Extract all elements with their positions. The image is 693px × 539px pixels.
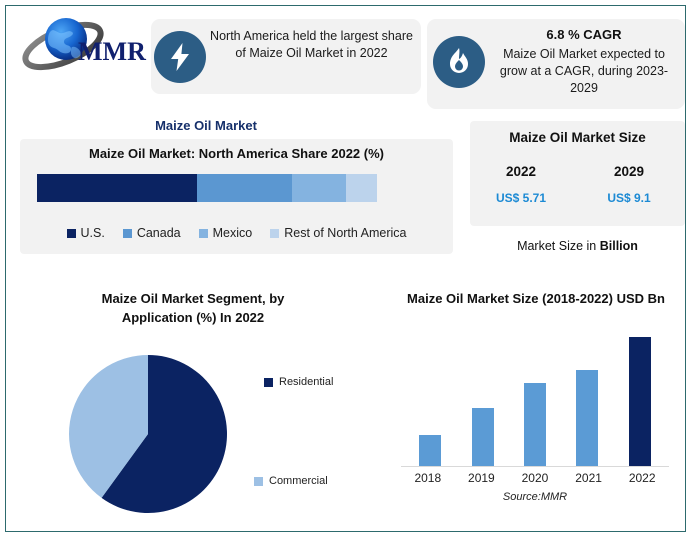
market-size-column-2029: 2029 US$ 9.1: [584, 164, 674, 205]
na-share-segment: [197, 174, 292, 202]
na-legend-item: Rest of North America: [270, 226, 406, 240]
flame-icon: [433, 36, 485, 88]
column-chart-title: Maize Oil Market Size (2018-2022) USD Bn: [386, 289, 686, 308]
column-bar: [576, 370, 598, 466]
pie-legend-label-residential: Residential: [279, 376, 333, 388]
na-legend-item: Mexico: [199, 226, 253, 240]
column-x-label: 2021: [562, 471, 616, 485]
na-share-chart-title: Maize Oil Market: North America Share 20…: [20, 146, 453, 161]
flame-glyph: [447, 47, 471, 77]
lightning-bolt-glyph: [167, 42, 193, 72]
column-x-label: 2018: [401, 471, 455, 485]
na-share-stacked-bar: [37, 174, 377, 202]
na-legend-swatch: [123, 229, 132, 238]
column-chart-axis-line: [401, 466, 669, 467]
market-size-value-2022: US$ 5.71: [476, 191, 566, 205]
svg-text:MMR: MMR: [78, 37, 146, 66]
infographic-root: MMR North America held the largest share…: [0, 0, 693, 539]
banner-text-north-america: North America held the largest share of …: [209, 28, 414, 62]
na-legend-label: Canada: [137, 226, 181, 240]
market-size-title: Maize Oil Market Size: [470, 130, 685, 145]
cagr-headline: 6.8 % CAGR: [489, 26, 679, 43]
banner-text-cagr: 6.8 % CAGR Maize Oil Market expected to …: [489, 26, 679, 97]
na-legend-swatch: [67, 229, 76, 238]
na-legend-label: U.S.: [81, 226, 105, 240]
market-size-column-2022: 2022 US$ 5.71: [476, 164, 566, 205]
na-legend-item: Canada: [123, 226, 181, 240]
pie-legend-swatch-commercial: [254, 477, 263, 486]
column-bar: [629, 337, 651, 466]
column-chart-x-labels: 20182019202020212022: [401, 471, 669, 485]
column-x-label: 2020: [508, 471, 562, 485]
na-legend-swatch: [270, 229, 279, 238]
column-bar: [524, 383, 546, 466]
na-share-legend: U.S.CanadaMexicoRest of North America: [20, 226, 453, 240]
column-chart-source: Source:MMR: [401, 491, 669, 503]
market-size-year-2029: 2029: [584, 164, 674, 179]
globe-orbit-logo-icon: MMR: [20, 14, 152, 76]
pie-legend-swatch-residential: [264, 378, 273, 387]
na-share-segment: [292, 174, 346, 202]
cagr-description: Maize Oil Market expected to grow at a C…: [500, 47, 668, 95]
column-x-label: 2022: [615, 471, 669, 485]
column-x-label: 2019: [455, 471, 509, 485]
pie-legend-item-commercial: Commercial: [254, 475, 328, 487]
column-bar: [419, 435, 441, 466]
column-chart-plot: [404, 331, 666, 466]
pie-chart-title: Maize Oil Market Segment, by Application…: [68, 289, 318, 327]
pie-legend-label-commercial: Commercial: [269, 475, 328, 487]
column-bar: [472, 408, 494, 466]
lightning-bolt-icon: [154, 31, 206, 83]
pie-chart: [68, 354, 228, 514]
market-size-footnote: Market Size in Billion: [470, 239, 685, 253]
pie-legend-item-residential: Residential: [264, 376, 333, 388]
na-legend-swatch: [199, 229, 208, 238]
na-share-segment: [346, 174, 377, 202]
outer-frame: MMR North America held the largest share…: [5, 5, 686, 532]
mmr-logo: MMR: [20, 14, 152, 76]
market-size-footnote-prefix: Market Size in: [517, 239, 600, 253]
na-share-segment: [37, 174, 197, 202]
na-legend-label: Rest of North America: [284, 226, 406, 240]
na-legend-item: U.S.: [67, 226, 105, 240]
page-title: Maize Oil Market: [106, 118, 306, 133]
market-size-year-2022: 2022: [476, 164, 566, 179]
market-size-footnote-unit: Billion: [600, 239, 638, 253]
market-size-value-2029: US$ 9.1: [584, 191, 674, 205]
na-legend-label: Mexico: [213, 226, 253, 240]
